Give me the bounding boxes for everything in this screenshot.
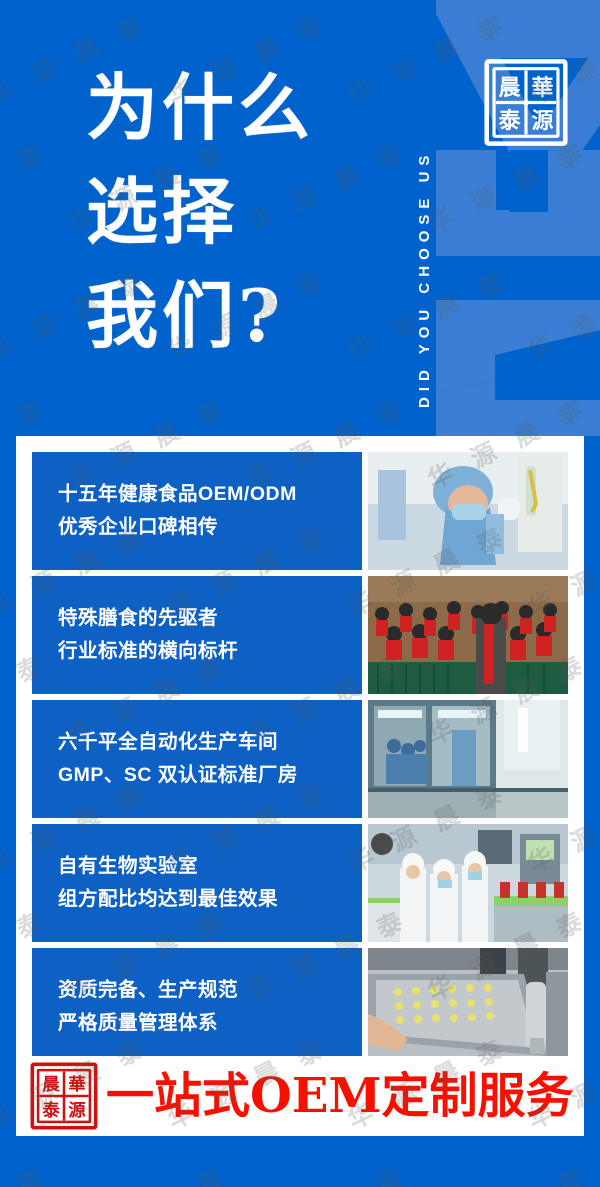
svg-text:晨: 晨 bbox=[499, 75, 521, 101]
feature-photo bbox=[368, 824, 568, 942]
feature-line-2: GMP、SC 双认证标准厂房 bbox=[58, 759, 362, 792]
feature-text-block: 资质完备、生产规范 严格质量管理体系 bbox=[32, 948, 362, 1066]
feature-text-block: 自有生物实验室 组方配比均达到最佳效果 bbox=[32, 824, 362, 942]
svg-text:源: 源 bbox=[68, 1100, 86, 1121]
feature-line-1: 特殊膳食的先驱者 bbox=[58, 602, 362, 635]
page-title: 为什么 选择 我们? bbox=[86, 56, 314, 368]
feature-line-2: 组方配比均达到最佳效果 bbox=[58, 883, 362, 916]
footer-banner: 晨 華 泰 源 一站式OEM定制服务 bbox=[16, 1056, 584, 1136]
feature-text-block: 六千平全自动化生产车间 GMP、SC 双认证标准厂房 bbox=[32, 700, 362, 818]
feature-line-2: 严格质量管理体系 bbox=[58, 1007, 362, 1040]
feature-text-block: 十五年健康食品OEM/ODM 优秀企业口碑相传 bbox=[32, 452, 362, 570]
svg-text:泰: 泰 bbox=[499, 108, 522, 134]
feature-row[interactable]: 六千平全自动化生产车间 GMP、SC 双认证标准厂房 bbox=[32, 700, 568, 818]
feature-text-block: 特殊膳食的先驱者 行业标准的横向标杆 bbox=[32, 576, 362, 694]
company-seal-logo-icon: 晨 華 泰 源 bbox=[480, 55, 572, 150]
feature-line-1: 六千平全自动化生产车间 bbox=[58, 726, 362, 759]
title-line-3: 我们? bbox=[86, 264, 314, 368]
svg-text:華: 華 bbox=[531, 75, 553, 101]
header-section: 为什么 选择 我们? DID YOU CHOOSE US 晨 華 泰 源 bbox=[0, 0, 600, 436]
svg-text:源: 源 bbox=[531, 108, 553, 134]
svg-text:華: 華 bbox=[68, 1075, 85, 1095]
feature-photo bbox=[368, 576, 568, 694]
feature-line-2: 优秀企业口碑相传 bbox=[58, 511, 362, 544]
footer-slogan: 一站式OEM定制服务 bbox=[106, 1068, 574, 1124]
feature-line-1: 资质完备、生产规范 bbox=[58, 974, 362, 1007]
bottom-blue-strip bbox=[0, 1136, 600, 1187]
feature-line-2: 行业标准的横向标杆 bbox=[58, 635, 362, 668]
feature-row[interactable]: 资质完备、生产规范 严格质量管理体系 bbox=[32, 948, 568, 1066]
feature-photo bbox=[368, 700, 568, 818]
vertical-tagline: DID YOU CHOOSE US bbox=[416, 18, 433, 408]
svg-text:晨: 晨 bbox=[42, 1075, 60, 1095]
feature-row[interactable]: 自有生物实验室 组方配比均达到最佳效果 bbox=[32, 824, 568, 942]
feature-row[interactable]: 十五年健康食品OEM/ODM 优秀企业口碑相传 bbox=[32, 452, 568, 570]
svg-text:泰: 泰 bbox=[42, 1100, 60, 1121]
features-panel: 十五年健康食品OEM/ODM 优秀企业口碑相传 bbox=[16, 436, 584, 1136]
title-line-1: 为什么 bbox=[86, 56, 314, 160]
feature-photo bbox=[368, 452, 568, 570]
feature-row[interactable]: 特殊膳食的先驱者 行业标准的横向标杆 bbox=[32, 576, 568, 694]
feature-line-1: 十五年健康食品OEM/ODM bbox=[58, 478, 362, 511]
feature-line-1: 自有生物实验室 bbox=[58, 850, 362, 883]
title-line-2: 选择 bbox=[86, 160, 314, 264]
feature-photo bbox=[368, 948, 568, 1066]
features-list: 十五年健康食品OEM/ODM 优秀企业口碑相传 bbox=[32, 452, 568, 1072]
company-seal-logo-icon: 晨 華 泰 源 bbox=[28, 1060, 100, 1132]
